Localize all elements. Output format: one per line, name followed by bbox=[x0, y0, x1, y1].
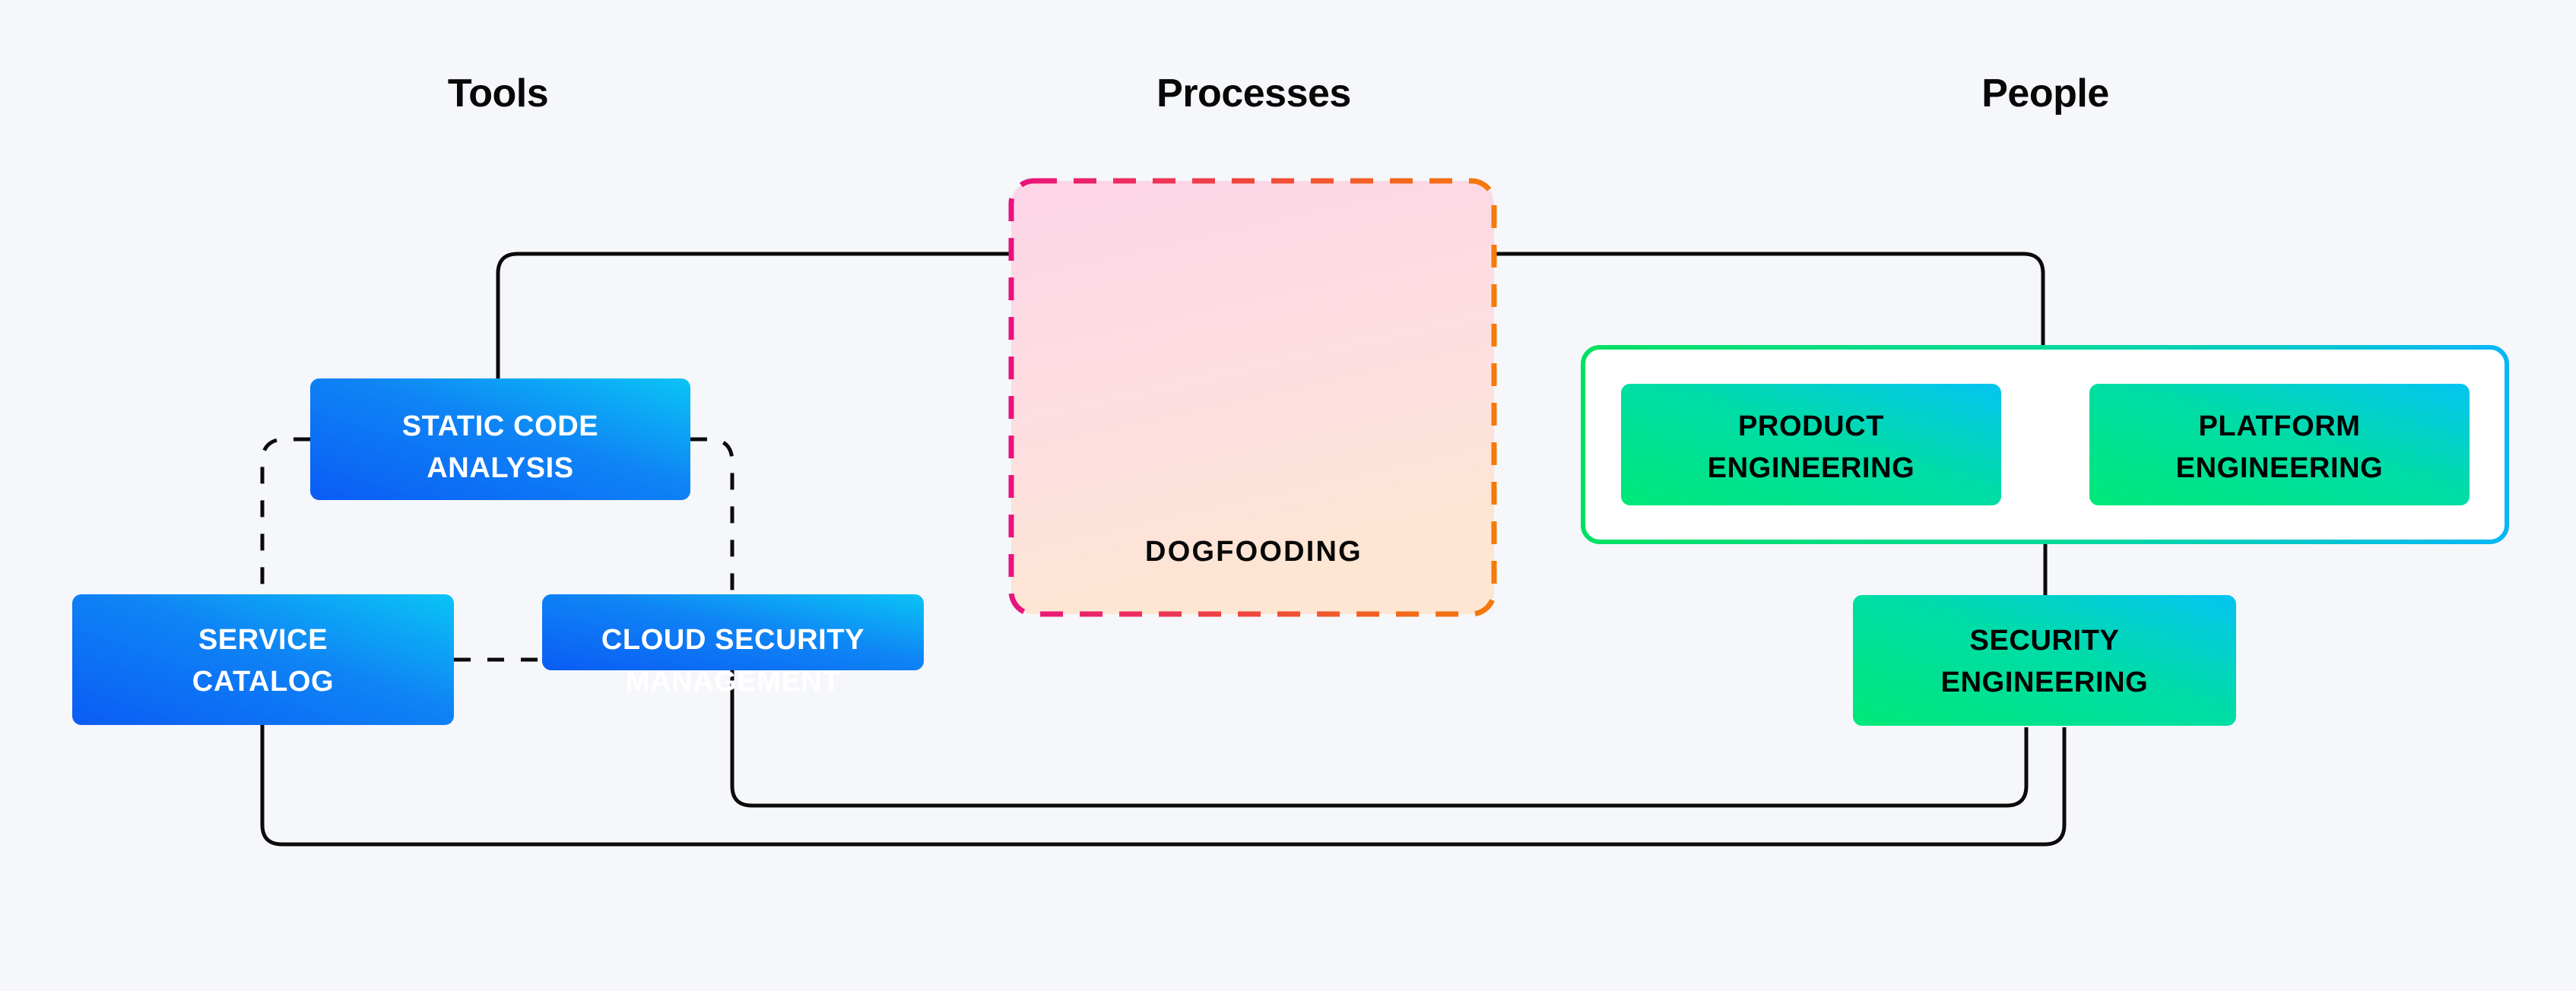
node-service-catalog[interactable]: SERVICE CATALOG bbox=[72, 594, 454, 725]
node-service-catalog-line1: SERVICE bbox=[198, 624, 328, 656]
node-platform-engineering-line1: PLATFORM bbox=[2198, 410, 2360, 442]
node-static-code-analysis-line1: STATIC CODE bbox=[402, 410, 599, 442]
column-header-processes: Processes bbox=[1156, 71, 1351, 116]
node-security-engineering-line2: ENGINEERING bbox=[1941, 666, 2149, 698]
tools-processes-people-diagram: Tools Processes People DOG bbox=[0, 0, 2576, 991]
node-static-code-analysis[interactable]: STATIC CODE ANALYSIS bbox=[310, 378, 690, 500]
people-container: PRODUCT ENGINEERING PLATFORM ENGINEERING bbox=[1583, 347, 2507, 542]
node-product-engineering-box[interactable] bbox=[1621, 384, 2001, 505]
node-service-catalog-box[interactable] bbox=[72, 594, 454, 725]
node-security-engineering-box[interactable] bbox=[1853, 595, 2236, 726]
node-platform-engineering-line2: ENGINEERING bbox=[2176, 452, 2384, 484]
node-product-engineering-line1: PRODUCT bbox=[1738, 410, 1884, 442]
node-service-catalog-line2: CATALOG bbox=[192, 666, 334, 698]
node-security-engineering-line1: SECURITY bbox=[1970, 625, 2120, 657]
node-static-code-analysis-line2: ANALYSIS bbox=[427, 452, 573, 484]
node-cloud-security-management-line2: MANAGEMENT bbox=[626, 666, 841, 698]
dogfooding-label: DOGFOODING bbox=[1145, 536, 1363, 568]
node-platform-engineering[interactable]: PLATFORM ENGINEERING bbox=[2089, 384, 2470, 505]
node-security-engineering[interactable]: SECURITY ENGINEERING bbox=[1853, 595, 2236, 726]
node-product-engineering[interactable]: PRODUCT ENGINEERING bbox=[1621, 384, 2001, 505]
diagram-canvas: Tools Processes People DOG bbox=[0, 0, 2576, 991]
column-header-tools: Tools bbox=[448, 71, 548, 116]
node-product-engineering-line2: ENGINEERING bbox=[1708, 452, 1915, 484]
dogfooding-panel: DOGFOODING bbox=[1011, 181, 1494, 614]
column-header-people: People bbox=[1981, 71, 2109, 116]
node-platform-engineering-box[interactable] bbox=[2089, 384, 2470, 505]
node-cloud-security-management-line1: CLOUD SECURITY bbox=[601, 624, 864, 656]
